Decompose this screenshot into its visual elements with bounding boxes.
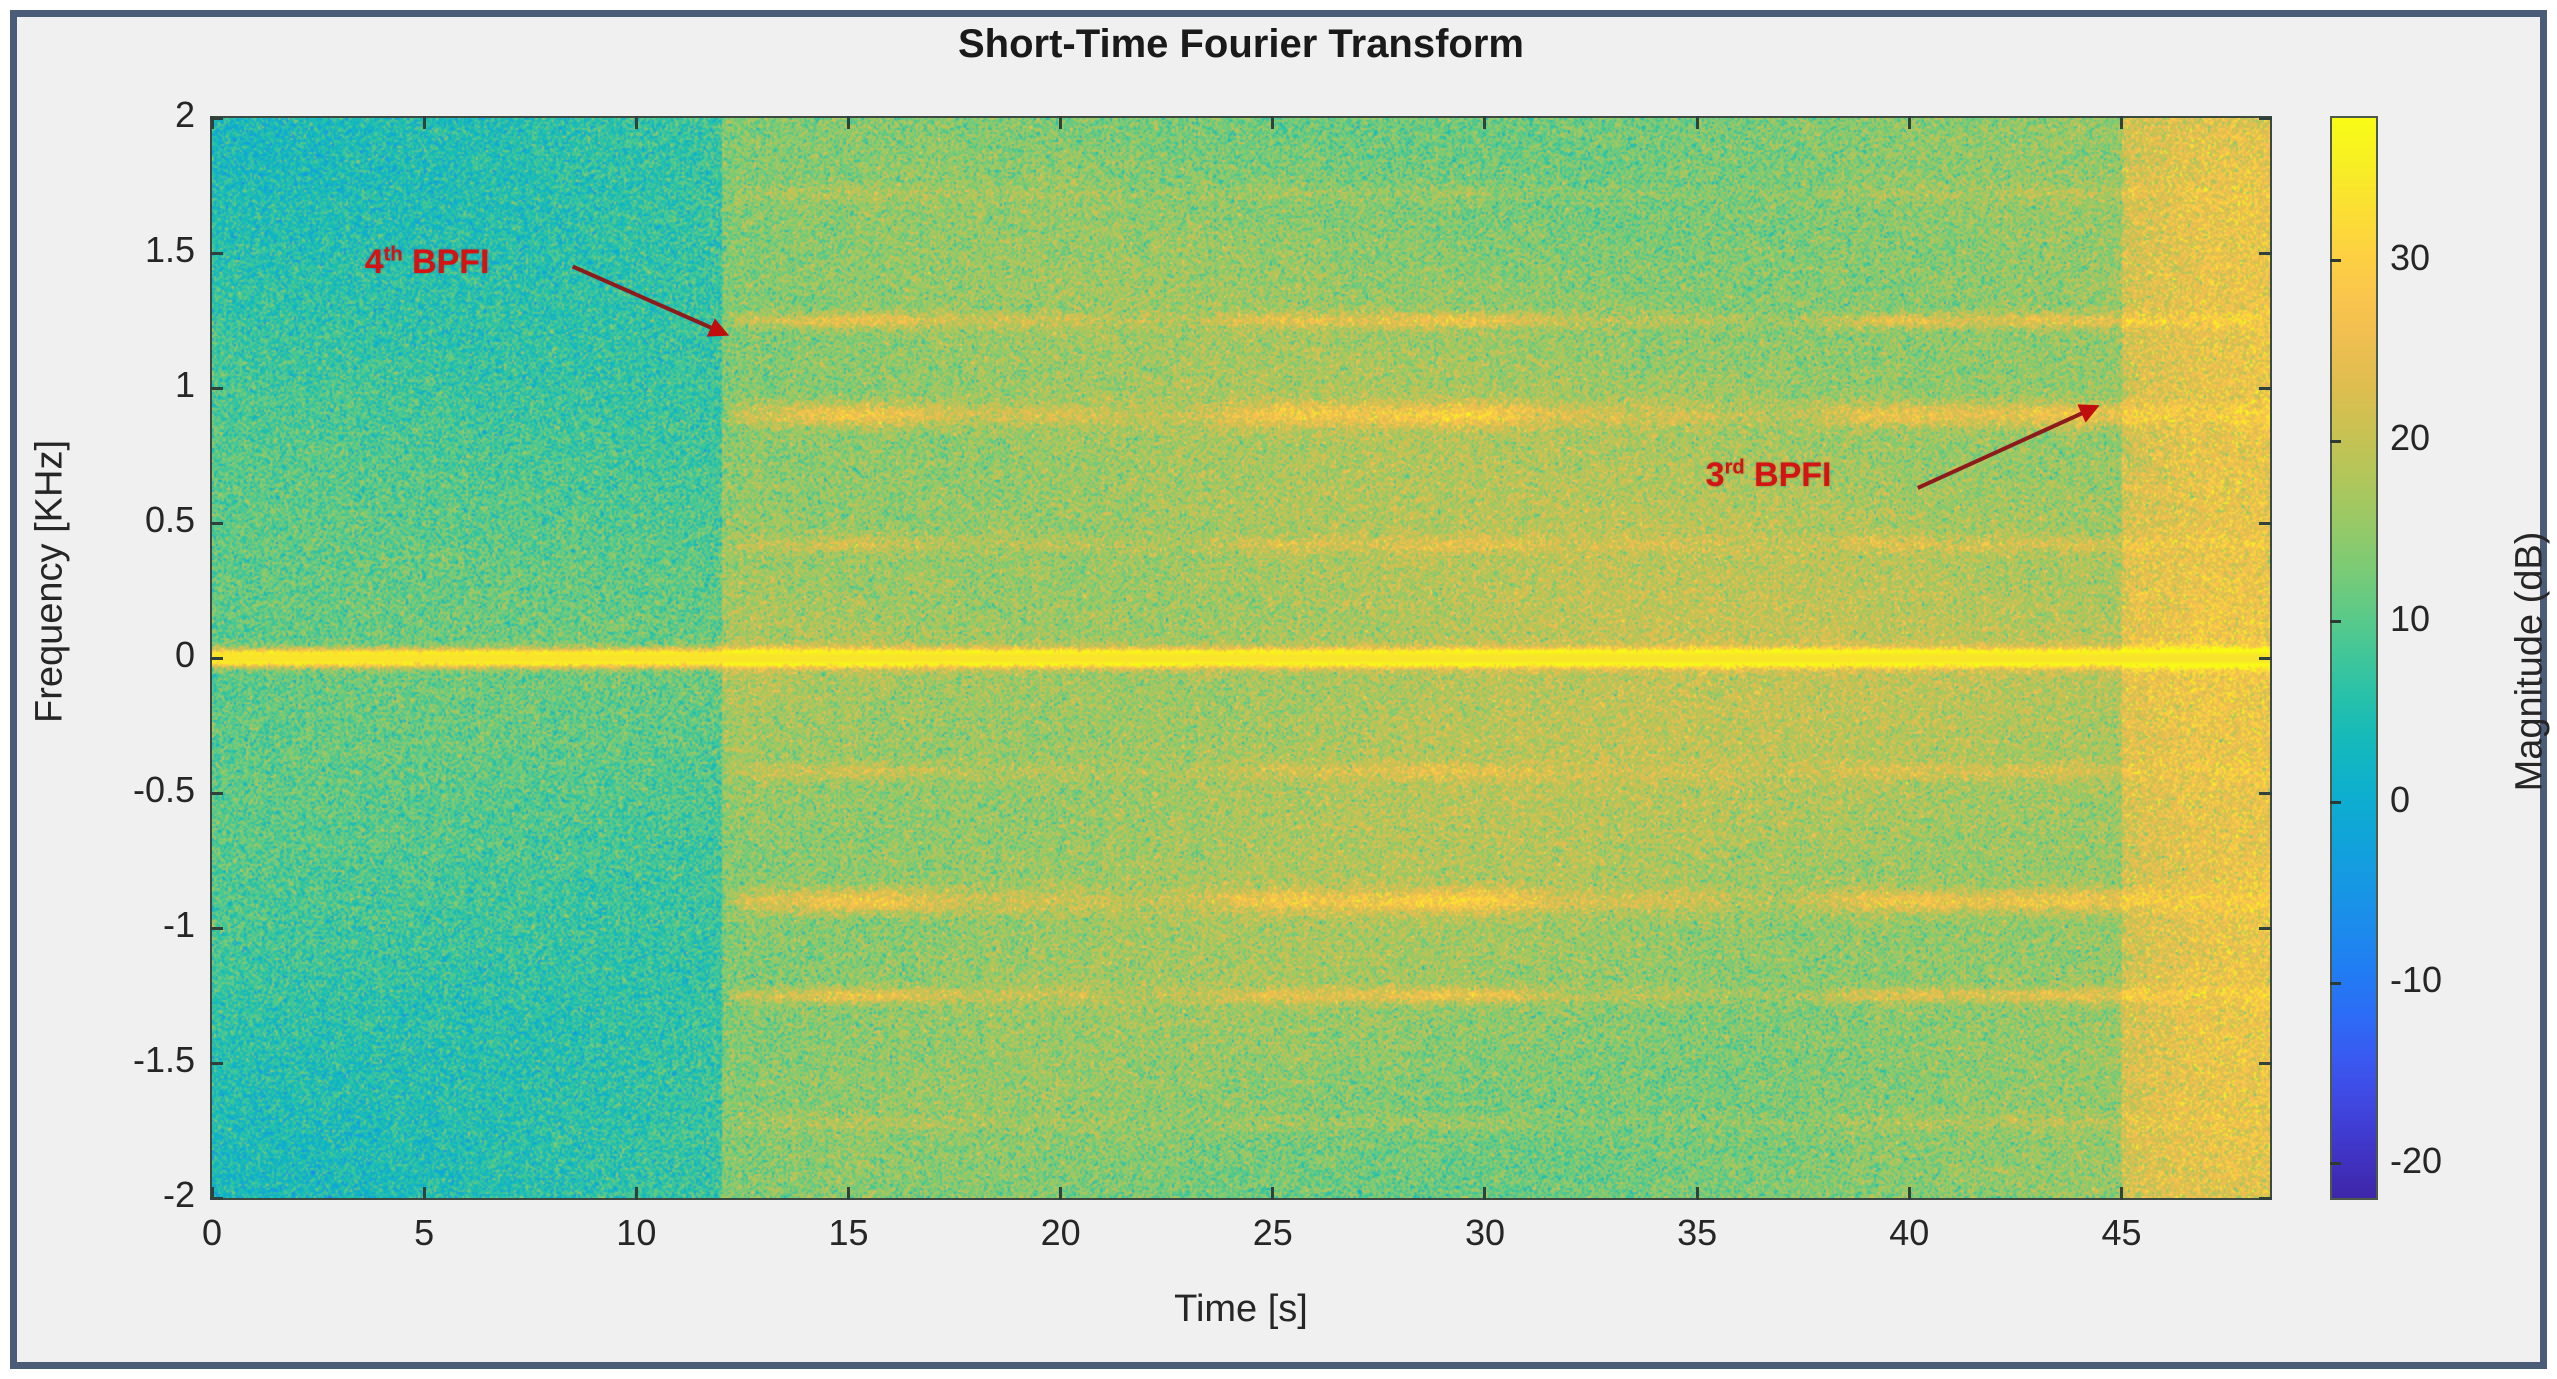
colorbar-tick-label: 20 bbox=[2390, 417, 2430, 459]
x-axis-tick-mark bbox=[423, 116, 426, 129]
x-axis-tick-label: 25 bbox=[1253, 1212, 1293, 1254]
y-axis-tick-mark bbox=[210, 387, 223, 390]
annotation-3rd-bpfi: 3rd BPFI bbox=[1706, 456, 1832, 495]
y-axis-tick-label: -0.5 bbox=[133, 769, 195, 811]
y-axis-tick-mark bbox=[2259, 522, 2272, 525]
colorbar-tick-mark bbox=[2330, 1162, 2341, 1165]
y-axis-tick-mark bbox=[2259, 387, 2272, 390]
colorbar-tick-label: 10 bbox=[2390, 598, 2430, 640]
y-axis-tick-mark bbox=[210, 1062, 223, 1065]
figure-root: Short-Time Fourier Transform Frequency [… bbox=[0, 0, 2557, 1379]
x-axis-tick-mark bbox=[635, 1187, 638, 1200]
page-title: Short-Time Fourier Transform bbox=[210, 22, 2272, 67]
y-axis-tick-mark bbox=[2259, 1062, 2272, 1065]
y-axis-tick-label: 0.5 bbox=[145, 499, 195, 541]
y-axis-tick-mark bbox=[210, 792, 223, 795]
x-axis-tick-label: 0 bbox=[202, 1212, 222, 1254]
annotation-ordinal-suffix: rd bbox=[1725, 456, 1745, 478]
x-axis-tick-mark bbox=[423, 1187, 426, 1200]
y-axis-tick-label: -2 bbox=[163, 1174, 195, 1216]
annotation-ordinal: 4 bbox=[365, 243, 384, 281]
colorbar-tick-label: -10 bbox=[2390, 959, 2442, 1001]
x-axis-tick-mark bbox=[1483, 116, 1486, 129]
x-axis-tick-mark bbox=[1483, 1187, 1486, 1200]
x-axis-label: Time [s] bbox=[210, 1288, 2272, 1331]
colorbar-label: Magnitude (dB) bbox=[2509, 312, 2552, 1012]
x-axis-tick-label: 30 bbox=[1465, 1212, 1505, 1254]
spectrogram-plot-area bbox=[210, 116, 2272, 1200]
annotation-label: BPFI bbox=[1754, 456, 1831, 494]
y-axis-tick-mark bbox=[2259, 792, 2272, 795]
x-axis-tick-mark bbox=[847, 116, 850, 129]
colorbar-tick-mark bbox=[2330, 801, 2341, 804]
colorbar-tick-label: 0 bbox=[2390, 779, 2410, 821]
x-axis-tick-label: 10 bbox=[616, 1212, 656, 1254]
x-axis-tick-mark bbox=[211, 116, 214, 129]
x-axis-tick-mark bbox=[2120, 116, 2123, 129]
colorbar-tick-mark bbox=[2330, 620, 2341, 623]
x-axis-tick-mark bbox=[2120, 1187, 2123, 1200]
colorbar-tick-mark bbox=[2330, 982, 2341, 985]
y-axis-tick-mark bbox=[210, 522, 223, 525]
y-axis-tick-mark bbox=[210, 252, 223, 255]
annotation-ordinal: 3 bbox=[1706, 456, 1725, 494]
spectrogram-image bbox=[212, 118, 2270, 1198]
y-axis-label: Frequency [KHz] bbox=[29, 232, 72, 932]
colorbar-gradient bbox=[2332, 118, 2376, 1198]
y-axis-tick-mark bbox=[2259, 252, 2272, 255]
y-axis-tick-mark bbox=[2259, 117, 2272, 120]
colorbar bbox=[2330, 116, 2378, 1200]
x-axis-tick-label: 5 bbox=[414, 1212, 434, 1254]
y-axis-tick-label: -1.5 bbox=[133, 1039, 195, 1081]
x-axis-tick-mark bbox=[1271, 1187, 1274, 1200]
y-axis-tick-label: 2 bbox=[175, 94, 195, 136]
x-axis-tick-mark bbox=[635, 116, 638, 129]
x-axis-tick-label: 20 bbox=[1041, 1212, 1081, 1254]
x-axis-tick-mark bbox=[1908, 116, 1911, 129]
y-axis-tick-mark bbox=[2259, 927, 2272, 930]
x-axis-tick-mark bbox=[1908, 1187, 1911, 1200]
y-axis-tick-label: -1 bbox=[163, 904, 195, 946]
x-axis-tick-mark bbox=[1696, 116, 1699, 129]
x-axis-tick-mark bbox=[211, 1187, 214, 1200]
x-axis-tick-mark bbox=[1696, 1187, 1699, 1200]
x-axis-tick-mark bbox=[1271, 116, 1274, 129]
x-axis-tick-mark bbox=[1059, 1187, 1062, 1200]
annotation-label: BPFI bbox=[412, 243, 489, 281]
x-axis-tick-label: 40 bbox=[1889, 1212, 1929, 1254]
y-axis-tick-label: 1 bbox=[175, 364, 195, 406]
y-axis-tick-mark bbox=[210, 927, 223, 930]
colorbar-tick-label: -20 bbox=[2390, 1140, 2442, 1182]
colorbar-tick-label: 30 bbox=[2390, 237, 2430, 279]
x-axis-tick-label: 45 bbox=[2101, 1212, 2141, 1254]
annotation-ordinal-suffix: th bbox=[384, 243, 403, 265]
y-axis-tick-label: 0 bbox=[175, 634, 195, 676]
y-axis-tick-mark bbox=[2259, 1197, 2272, 1200]
colorbar-tick-mark bbox=[2330, 440, 2341, 443]
x-axis-tick-mark bbox=[847, 1187, 850, 1200]
colorbar-tick-mark bbox=[2330, 259, 2341, 262]
y-axis-tick-mark bbox=[2259, 657, 2272, 660]
y-axis-tick-label: 1.5 bbox=[145, 229, 195, 271]
x-axis-tick-label: 35 bbox=[1677, 1212, 1717, 1254]
x-axis-tick-mark bbox=[1059, 116, 1062, 129]
annotation-4th-bpfi: 4th BPFI bbox=[365, 243, 490, 282]
y-axis-tick-mark bbox=[210, 657, 223, 660]
x-axis-tick-label: 15 bbox=[828, 1212, 868, 1254]
